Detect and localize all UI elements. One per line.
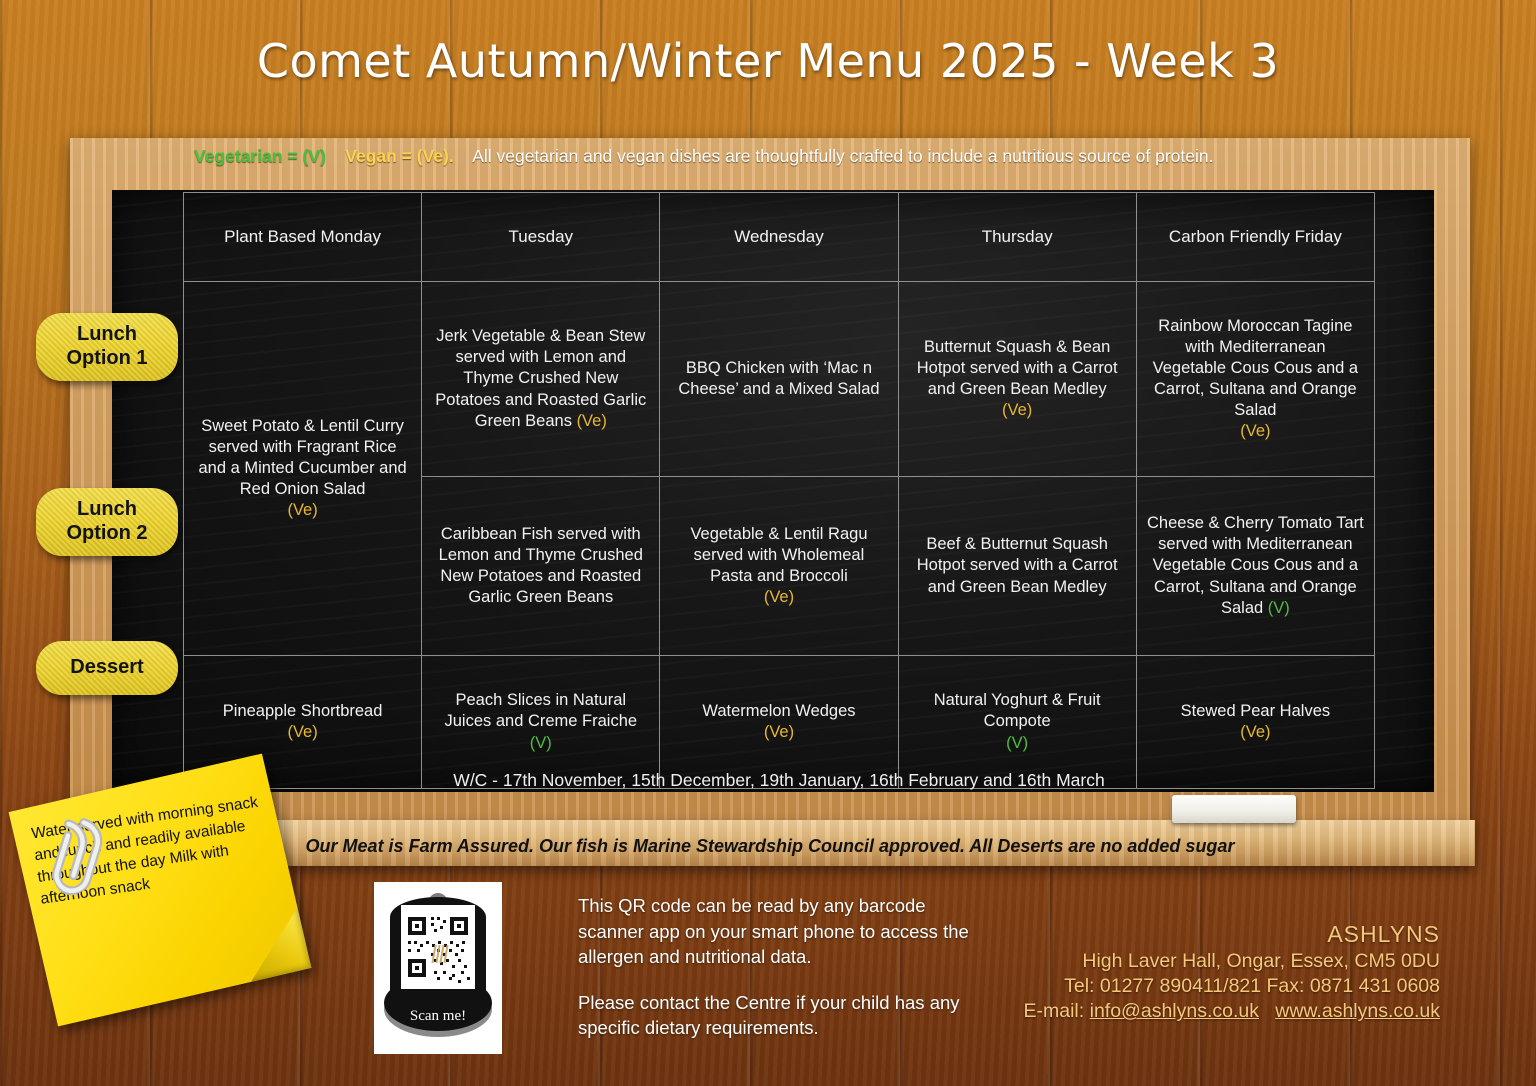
cell-wednesday-dessert: Watermelon Wedges (Ve) (660, 656, 898, 789)
dish-text: Pineapple Shortbread (223, 702, 383, 720)
menu-poster: Comet Autumn/Winter Menu 2025 - Week 3 V… (0, 0, 1536, 1086)
cell-wednesday-lunch2: Vegetable & Lentil Ragu served with Whol… (660, 477, 898, 656)
email-label: E-mail: (1024, 1000, 1085, 1022)
table-row-dessert: Pineapple Shortbread (Ve) Peach Slices i… (184, 656, 1375, 789)
cell-tuesday-dessert: Peach Slices in Natural Juices and Creme… (422, 656, 660, 789)
company-phone: Tel: 01277 890411/821 Fax: 0871 431 0608 (940, 974, 1440, 999)
company-address: High Laver Hall, Ongar, Essex, CM5 0DU (940, 949, 1440, 974)
cell-tuesday-lunch2: Caribbean Fish served with Lemon and Thy… (422, 477, 660, 656)
cell-friday-lunch2: Cheese & Cherry Tomato Tart served with … (1136, 477, 1374, 656)
contact-block: ASHLYNS High Laver Hall, Ongar, Essex, C… (940, 920, 1440, 1024)
legend-note: All vegetarian and vegan dishes are thou… (472, 146, 1213, 166)
diet-tag: (Ve) (577, 412, 607, 430)
diet-tag: (Ve) (1002, 401, 1032, 419)
dish-text: Butternut Squash & Bean Hotpot served wi… (917, 338, 1118, 398)
row-label-line2: Option 2 (66, 522, 147, 544)
website-link[interactable]: www.ashlyns.co.uk (1275, 1000, 1440, 1022)
dietary-legend: Vegetarian = (V) Vegan = (Ve). All veget… (194, 146, 1394, 167)
sticky-note: Water served with morning snack and lunc… (9, 754, 312, 1027)
qr-caption: Scan me! (410, 1008, 466, 1024)
column-header-tuesday: Tuesday (422, 193, 660, 282)
diet-tag: (Ve) (287, 723, 317, 741)
page-title: Comet Autumn/Winter Menu 2025 - Week 3 (0, 34, 1536, 88)
dish-text: Caribbean Fish served with Lemon and Thy… (439, 525, 643, 606)
diet-tag: (Ve) (764, 723, 794, 741)
diet-tag: (V) (1006, 734, 1028, 752)
cell-thursday-lunch2: Beef & Butternut Squash Hotpot served wi… (898, 477, 1136, 656)
menu-table: Plant Based Monday Tuesday Wednesday Thu… (183, 192, 1375, 789)
row-label-dessert: Dessert (36, 641, 178, 695)
row-label-line2: Option 1 (66, 347, 147, 369)
dish-text: Natural Yoghurt & Fruit Compote (934, 691, 1101, 730)
column-header-wednesday: Wednesday (660, 193, 898, 282)
dish-text: Stewed Pear Halves (1181, 702, 1331, 720)
diet-tag: (V) (530, 734, 552, 752)
cell-wednesday-lunch1: BBQ Chicken with ‘Mac n Cheese’ and a Mi… (660, 282, 898, 477)
diet-tag: (Ve) (287, 501, 317, 519)
qr-paragraph-2: Please contact the Centre if your child … (578, 990, 978, 1041)
row-label-line1: Lunch (77, 498, 137, 520)
cell-friday-lunch1: Rainbow Moroccan Tagine with Mediterrane… (1136, 282, 1374, 477)
dish-text: Sweet Potato & Lentil Curry served with … (198, 417, 406, 498)
row-label-lunch-option-2: Lunch Option 2 (36, 488, 178, 556)
dish-text: Rainbow Moroccan Tagine with Mediterrane… (1153, 317, 1359, 419)
table-header-row: Plant Based Monday Tuesday Wednesday Thu… (184, 193, 1375, 282)
dish-text: Watermelon Wedges (702, 702, 855, 720)
diet-tag: (Ve) (1240, 723, 1270, 741)
column-header-monday: Plant Based Monday (184, 193, 422, 282)
qr-instructions: This QR code can be read by any barcode … (578, 893, 978, 1041)
cell-monday-lunch: Sweet Potato & Lentil Curry served with … (184, 282, 422, 656)
legend-vegetarian: Vegetarian = (V) (194, 146, 326, 166)
column-header-thursday: Thursday (898, 193, 1136, 282)
cell-tuesday-lunch1: Jerk Vegetable & Bean Stew served with L… (422, 282, 660, 477)
diet-tag: (Ve) (764, 588, 794, 606)
qr-paragraph-1: This QR code can be read by any barcode … (578, 893, 978, 970)
dish-text: Vegetable & Lentil Ragu served with Whol… (690, 525, 867, 585)
qr-code-badge[interactable]: Scan me! (374, 882, 502, 1054)
saucepan-qr-graphic: Scan me! (379, 887, 497, 1049)
email-link[interactable]: info@ashlyns.co.uk (1090, 1000, 1259, 1022)
cell-thursday-dessert: Natural Yoghurt & Fruit Compote (V) (898, 656, 1136, 789)
table-row-lunch-option-1: Sweet Potato & Lentil Curry served with … (184, 282, 1375, 477)
chalk-eraser (1172, 795, 1296, 823)
diet-tag: (Ve) (1240, 422, 1270, 440)
dish-text: Jerk Vegetable & Bean Stew served with L… (435, 327, 646, 429)
company-name: ASHLYNS (940, 920, 1440, 949)
column-header-friday: Carbon Friendly Friday (1136, 193, 1374, 282)
cell-friday-dessert: Stewed Pear Halves (Ve) (1136, 656, 1374, 789)
row-label-line1: Lunch (77, 323, 137, 345)
diet-tag: (V) (1268, 599, 1290, 617)
dish-text: Beef & Butternut Squash Hotpot served wi… (917, 535, 1118, 595)
dish-text: BBQ Chicken with ‘Mac n Cheese’ and a Mi… (678, 359, 879, 398)
cell-thursday-lunch1: Butternut Squash & Bean Hotpot served wi… (898, 282, 1136, 477)
row-label-lunch-option-1: Lunch Option 1 (36, 313, 178, 381)
dish-text: Peach Slices in Natural Juices and Creme… (444, 691, 637, 730)
dish-text: Cheese & Cherry Tomato Tart served with … (1147, 514, 1364, 616)
company-email-line: E-mail: info@ashlyns.co.uk www.ashlyns.c… (940, 999, 1440, 1024)
row-label-text: Dessert (70, 656, 143, 680)
legend-vegan: Vegan = (Ve). (345, 146, 453, 166)
week-commencing-text: W/C - 17th November, 15th December, 19th… (183, 770, 1375, 791)
